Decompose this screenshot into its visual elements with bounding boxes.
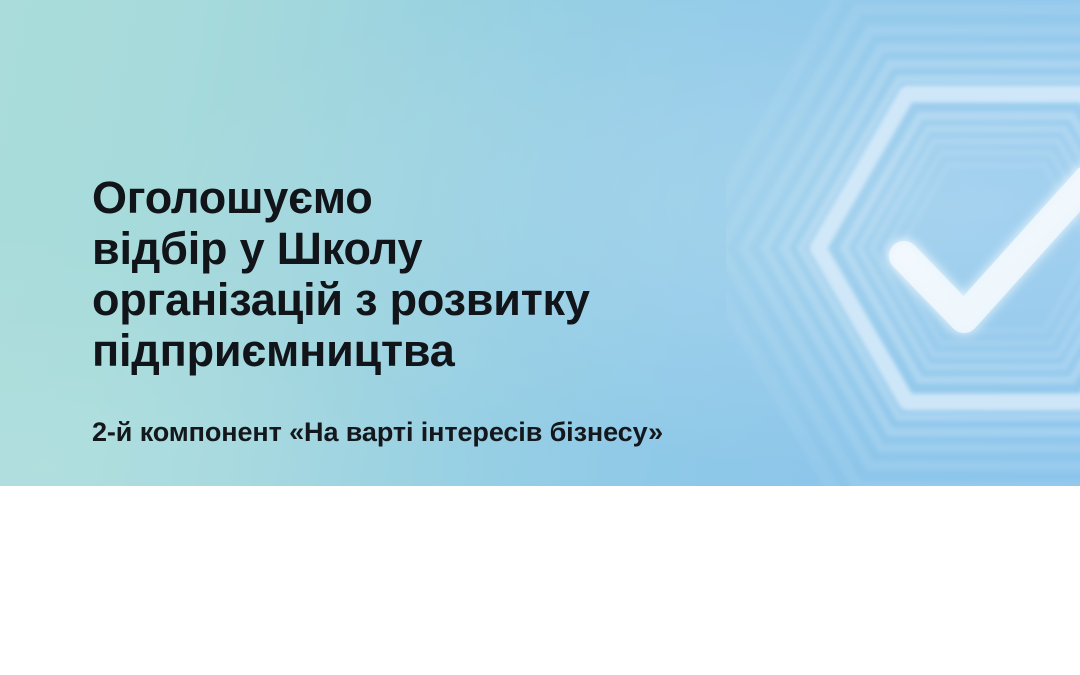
hexagon-checkmark-icon	[726, 0, 1080, 486]
page-title: Оголошуємо відбір у Школу організацій з …	[92, 172, 590, 376]
subtitle: 2-й компонент «На варті інтересів бізнес…	[92, 416, 663, 448]
footer-section: USAID	[0, 486, 1080, 675]
hero-section: Оголошуємо відбір у Школу організацій з …	[0, 0, 1080, 486]
announcement-banner: Оголошуємо відбір у Школу організацій з …	[0, 0, 1080, 675]
